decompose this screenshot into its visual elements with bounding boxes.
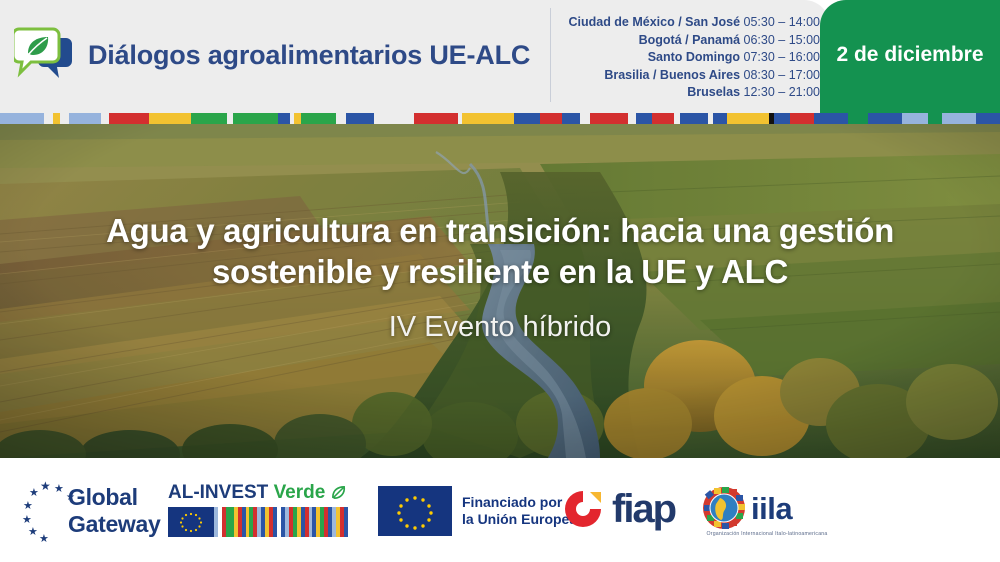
al-invest-suffix: Verde xyxy=(274,482,326,503)
timezone-hours: 06:30 – 15:00 xyxy=(744,33,820,47)
timezone-row: Ciudad de México / San José 05:30 – 14:0… xyxy=(556,14,820,32)
timezone-city: Santo Domingo xyxy=(648,50,740,64)
timezone-city: Ciudad de México / San José xyxy=(568,15,740,29)
al-invest-prefix: AL-INVEST xyxy=(168,482,268,503)
svg-text:★: ★ xyxy=(29,487,39,499)
brand-title: Diálogos agroalimentarios UE-ALC xyxy=(88,40,530,71)
timezone-row: Brasilia / Buenos Aires 08:30 – 17:00 xyxy=(556,67,820,85)
brand: Diálogos agroalimentarios UE-ALC xyxy=(14,20,530,90)
eu-flag-icon xyxy=(378,486,452,536)
svg-text:★: ★ xyxy=(23,500,33,512)
timezone-city: Bogotá / Panamá xyxy=(639,33,740,47)
iila-logo: iila Organización Internacional Italo-la… xyxy=(702,486,832,537)
timezone-hours: 08:30 – 17:00 xyxy=(744,68,820,82)
page-header: Diálogos agroalimentarios UE-ALC Ciudad … xyxy=(0,0,1000,110)
timezone-row: Bruselas 12:30 – 21:00 xyxy=(556,84,820,102)
leaf-speech-bubble-icon xyxy=(14,26,76,84)
al-invest-verde-logo: AL-INVEST Verde xyxy=(168,482,348,540)
timezone-city: Bruselas xyxy=(687,85,740,99)
globe-flags-icon xyxy=(702,486,746,530)
header-divider xyxy=(550,8,551,102)
svg-text:★: ★ xyxy=(39,533,49,542)
global-gateway-logo: ★ ★ ★ ★ ★ ★ ★ ★ Global Gateway xyxy=(18,478,168,542)
timezone-hours: 12:30 – 21:00 xyxy=(744,85,820,99)
eu-flag-icon xyxy=(168,507,214,537)
hero-text-block: Agua y agricultura en transición: hacia … xyxy=(0,124,1000,458)
timezone-hours: 07:30 – 16:00 xyxy=(744,50,820,64)
hero-banner: Agua y agricultura en transición: hacia … xyxy=(0,124,1000,458)
iila-wordmark: iila xyxy=(751,493,792,524)
fiap-logo: fiap xyxy=(560,486,675,532)
flag-strip-flags xyxy=(0,113,1000,124)
leaf-icon xyxy=(331,485,346,500)
iila-row: iila xyxy=(702,486,832,530)
timezone-hours: 05:30 – 14:00 xyxy=(744,15,820,29)
svg-text:★: ★ xyxy=(40,479,51,493)
timezone-row: Bogotá / Panamá 06:30 – 15:00 xyxy=(556,32,820,50)
timezone-row: Santo Domingo 07:30 – 16:00 xyxy=(556,49,820,67)
timezone-list: Ciudad de México / San José 05:30 – 14:0… xyxy=(556,14,820,102)
global-gateway-line2: Gateway xyxy=(68,511,161,538)
global-gateway-line1: Global xyxy=(68,484,161,511)
footer-logos: ★ ★ ★ ★ ★ ★ ★ ★ Global Gateway AL-INVEST… xyxy=(0,458,1000,562)
eu-funding-logo: Financiado por la Unión Europea xyxy=(378,486,577,536)
iila-subtitle: Organización Internacional Italo-latinoa… xyxy=(702,531,832,537)
al-invest-wordmark: AL-INVEST Verde xyxy=(168,482,348,504)
svg-text:★: ★ xyxy=(22,514,32,526)
al-invest-color-bar xyxy=(168,507,348,537)
fiap-wordmark: fiap xyxy=(612,489,675,529)
hero-title: Agua y agricultura en transición: hacia … xyxy=(50,210,950,292)
fiap-circle-icon xyxy=(560,486,606,532)
flag-strip xyxy=(0,110,1000,124)
svg-text:★: ★ xyxy=(28,526,38,538)
global-gateway-wordmark: Global Gateway xyxy=(68,484,161,538)
timezone-city: Brasilia / Buenos Aires xyxy=(604,68,740,82)
svg-text:★: ★ xyxy=(54,483,64,495)
event-date-badge: 2 de diciembre xyxy=(820,0,1000,110)
hero-subtitle: IV Evento híbrido xyxy=(389,310,611,344)
